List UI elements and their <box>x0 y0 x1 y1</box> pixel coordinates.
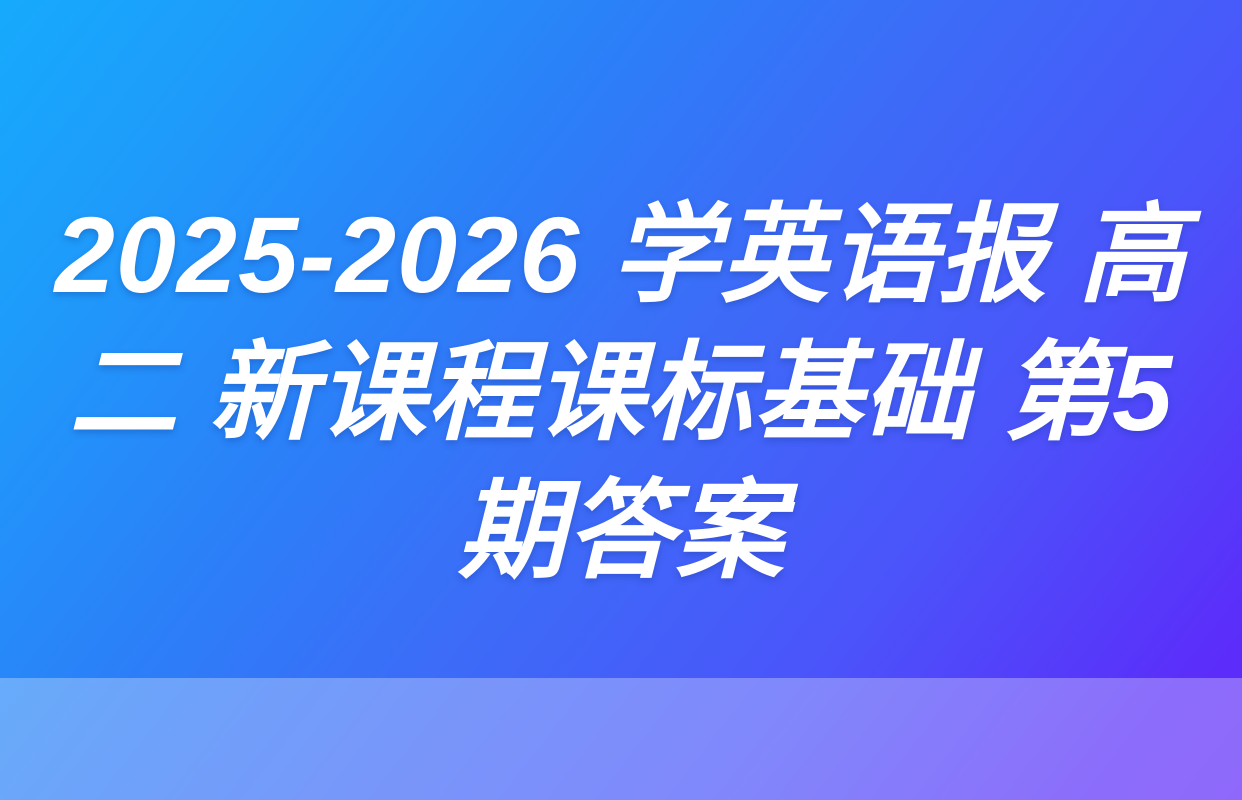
watermark-band: 答案解析网APP <box>0 678 1242 800</box>
promo-banner: 2025-2026 学英语报 高二 新课程课标基础 第5期答案 答案解析网APP <box>0 0 1242 800</box>
page-title: 2025-2026 学英语报 高二 新课程课标基础 第5期答案 <box>0 186 1242 600</box>
